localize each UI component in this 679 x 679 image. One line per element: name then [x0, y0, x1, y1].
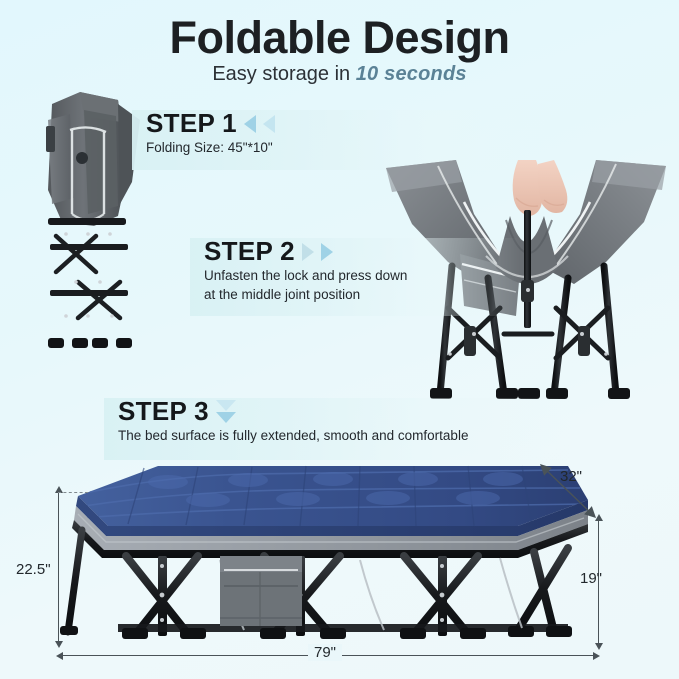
- chevron-down-icon-2: [216, 412, 236, 423]
- dimension-label-depth: 32": [560, 468, 582, 485]
- step-2-banner: STEP 2 Unfasten the lock and press down …: [190, 238, 520, 316]
- page-subtitle: Easy storage in 10 seconds: [0, 63, 679, 86]
- step-2-description-line-1: Unfasten the lock and press down: [204, 267, 520, 285]
- dimension-arrow-length-left: [56, 652, 63, 660]
- dimension-label-length: 79": [308, 644, 342, 661]
- step-3-label: STEP 3: [118, 398, 209, 425]
- step-2-description-line-2: at the middle joint position: [204, 286, 520, 304]
- dimension-arrow-head-bottom: [55, 641, 63, 648]
- side-pocket: [220, 556, 302, 626]
- infographic-canvas: Foldable Design Easy storage in 10 secon…: [0, 0, 679, 679]
- dimension-arrow-foot-top: [595, 514, 603, 521]
- step-2-content: STEP 2 Unfasten the lock and press down …: [190, 238, 520, 304]
- subtitle-highlight: 10 seconds: [356, 63, 467, 85]
- step-2-label: STEP 2: [204, 238, 295, 265]
- step-2-heading: STEP 2: [204, 238, 520, 265]
- step-3-heading: STEP 3: [118, 398, 574, 425]
- dimension-arrow-foot-bottom: [595, 643, 603, 650]
- step-1-heading: STEP 1: [146, 110, 552, 137]
- dimension-label-height-foot: 19": [580, 570, 602, 587]
- step-3-description: The bed surface is fully extended, smoot…: [118, 427, 574, 445]
- double-chevron-down-icon: [216, 400, 236, 423]
- dimension-guide-head: [58, 492, 88, 493]
- chevron-down-icon-1: [216, 400, 236, 411]
- chevron-left-icon-2: [263, 115, 275, 133]
- dimension-label-height-head: 22.5": [16, 561, 51, 578]
- step-1-content: STEP 1 Folding Size: 45"*10": [132, 110, 552, 158]
- chevron-right-icon-2: [321, 243, 333, 261]
- chevron-left-icon-1: [244, 115, 256, 133]
- chevron-right-icon-1: [302, 243, 314, 261]
- page-title: Foldable Design: [0, 14, 679, 61]
- step-3-content: STEP 3 The bed surface is fully extended…: [104, 398, 574, 446]
- open-cot-image: [48, 448, 608, 653]
- dimension-arrow-length-right: [593, 652, 600, 660]
- subtitle-prefix: Easy storage in: [212, 63, 355, 85]
- dimension-line-height-head: [58, 492, 59, 644]
- step-1-label: STEP 1: [146, 110, 237, 137]
- hands-icon: [513, 160, 568, 216]
- step-1-description: Folding Size: 45"*10": [146, 139, 552, 157]
